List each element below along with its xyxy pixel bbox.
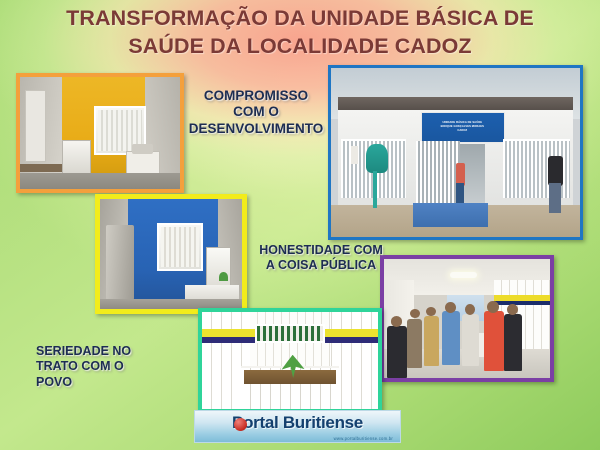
photo-room-blue-content: [100, 199, 242, 309]
ceiling-lamp-icon: [450, 272, 477, 278]
photo-facade-content: UNIDADE BÁSICA DE SAÚDE ENOQUE GONÇALVES…: [331, 68, 580, 237]
refrigerator: [106, 225, 134, 300]
person-1: [387, 326, 407, 378]
person-7-head: [507, 304, 518, 315]
table-object: [132, 144, 153, 154]
caption-seriedade-line-3: POVO: [36, 375, 186, 390]
person-right-bottom: [549, 183, 561, 213]
caption-honestidade: HONESTIDADE COM A COISA PÚBLICA: [236, 243, 406, 274]
sign-line-3: CADOZ: [441, 129, 484, 133]
plant: [219, 272, 228, 282]
blue-stripe: [494, 301, 550, 306]
photo-room-blue: [95, 194, 247, 314]
photo-health-unit-facade: UNIDADE BÁSICA DE SAÚDE ENOQUE GONÇALVES…: [328, 65, 583, 240]
caption-seriedade: SERIEDADE NO TRATO COM O POVO: [36, 344, 186, 390]
title-line-2: SAÚDE DA LOCALIDADE CADOZ: [42, 32, 558, 60]
person-6-head: [487, 301, 499, 313]
photo-courtyard-content: [202, 312, 378, 409]
portal-buritiense-logo[interactable]: Portal Buritiense www.portalburitiense.c…: [194, 410, 401, 443]
building-sign-text: UNIDADE BÁSICA DE SAÚDE ENOQUE GONÇALVES…: [441, 121, 484, 133]
cabinet: [62, 140, 91, 176]
person-7: [504, 314, 522, 371]
caption-compromisso-line-2: COM O: [176, 104, 336, 120]
photo-corridor-content: [384, 259, 550, 378]
logo-url: www.portalburitiense.com.br: [334, 436, 393, 441]
photo-corridor-people: [380, 255, 554, 382]
photo-tiled-courtyard: [198, 308, 382, 413]
caption-seriedade-line-1: SERIEDADE NO: [36, 344, 186, 359]
soil-bed: [244, 370, 336, 384]
caption-compromisso-line-3: DESENVOLVIMENTO: [176, 121, 336, 137]
title-line-1: TRANSFORMAÇÃO DA UNIDADE BÁSICA DE: [42, 4, 558, 32]
person-4-head: [445, 302, 456, 313]
page-title: TRANSFORMAÇÃO DA UNIDADE BÁSICA DE SAÚDE…: [42, 4, 558, 61]
person-2: [407, 319, 422, 369]
photo-room-yellow-content: [20, 77, 180, 189]
caption-compromisso: COMPROMISSO COM O DESENVOLVIMENTO: [176, 88, 336, 137]
caption-seriedade-line-2: TRATO COM O: [36, 359, 186, 374]
window-grill: [255, 324, 325, 344]
person-4: [442, 311, 460, 365]
person-1-head: [391, 316, 403, 327]
person-3: [424, 316, 439, 366]
logo-text: Portal Buritiense: [195, 413, 400, 433]
slide-canvas: TRANSFORMAÇÃO DA UNIDADE BÁSICA DE SAÚDE…: [0, 0, 600, 450]
person-6: [484, 311, 504, 371]
blue-access-ramp: [413, 203, 488, 227]
floor: [20, 173, 180, 189]
caption-compromisso-line-1: COMPROMISSO: [176, 88, 336, 104]
ball-icon: [234, 418, 247, 431]
roof: [338, 97, 572, 111]
person-entrance-bottom: [456, 183, 463, 203]
building-sign: UNIDADE BÁSICA DE SAÚDE ENOQUE GONÇALVES…: [421, 112, 505, 143]
photo-room-yellow: [16, 73, 184, 193]
phone-pole: [373, 171, 377, 208]
window: [157, 223, 204, 271]
person-2-head: [410, 309, 420, 319]
caption-honestidade-line-2: A COISA PÚBLICA: [236, 258, 406, 273]
person-3-head: [426, 307, 436, 317]
public-phone-booth: [366, 144, 388, 173]
door-left: [25, 90, 46, 161]
person-far-left: [351, 146, 358, 165]
person-right-top: [548, 156, 563, 186]
caption-honestidade-line-1: HONESTIDADE COM: [236, 243, 406, 258]
window-glass: [161, 227, 200, 267]
person-5: [462, 314, 479, 366]
